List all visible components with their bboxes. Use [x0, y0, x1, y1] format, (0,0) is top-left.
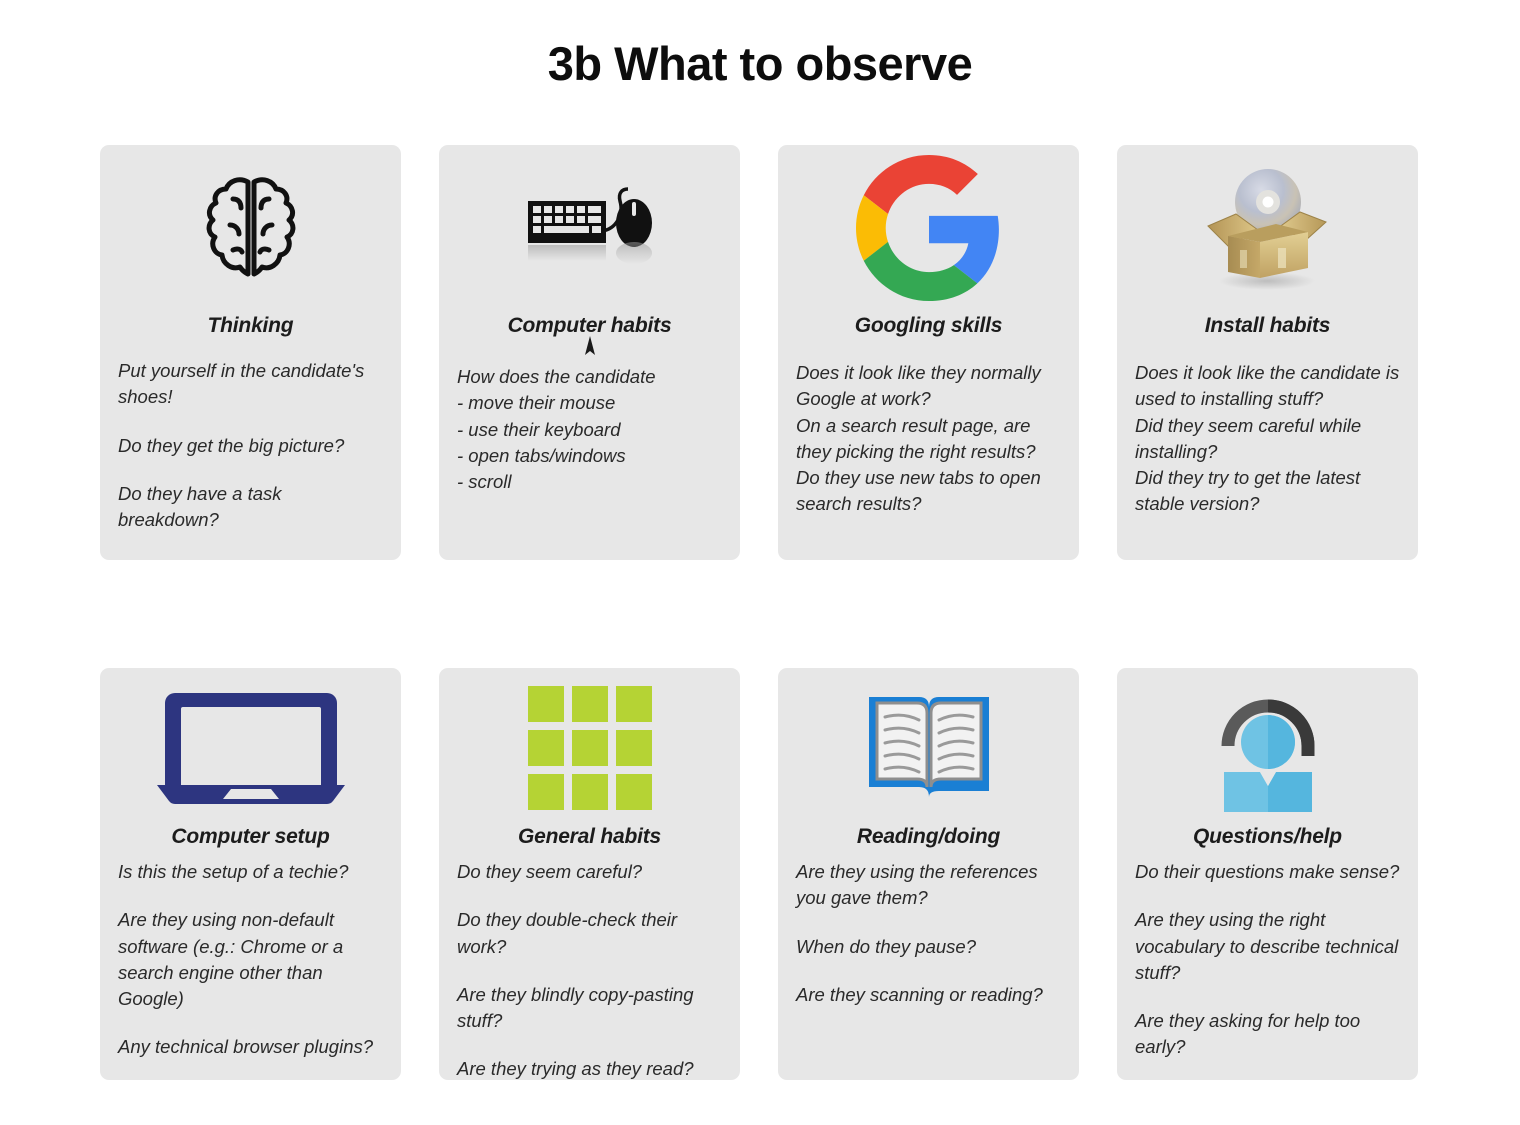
card-icon-slot: [1117, 145, 1418, 310]
observation-card-grid: Thinking Put yourself in the candidate's…: [100, 145, 1420, 1080]
software-box-cd-icon: [1200, 164, 1335, 297]
card-body: Are they using the references you gave t…: [778, 859, 1079, 1008]
card-line: - scroll: [457, 469, 722, 495]
card-computer-setup: Computer setup Is this the setup of a te…: [100, 668, 401, 1080]
card-line: Does it look like they normally Google a…: [796, 360, 1061, 413]
card-line: Do their questions make sense?: [1135, 859, 1400, 885]
card-title: Googling skills: [778, 314, 1079, 338]
card-googling-skills: Googling skills Does it look like they n…: [778, 145, 1079, 560]
card-line: Does it look like the candidate is used …: [1135, 360, 1400, 413]
card-icon-slot: [439, 668, 740, 823]
card-line: On a search result page, are they pickin…: [796, 413, 1061, 466]
card-body: Is this the setup of a techie? Are they …: [100, 859, 401, 1061]
card-install-habits: Install habits Does it look like the can…: [1117, 145, 1418, 560]
card-title: General habits: [439, 825, 740, 849]
google-g-icon: [856, 155, 1002, 306]
card-line: Are they using non-default software (e.g…: [118, 907, 383, 1012]
card-line: Put yourself in the candidate's shoes!: [118, 358, 383, 411]
laptop-icon: [153, 685, 349, 816]
card-icon-slot: [439, 145, 740, 310]
card-general-habits: General habits Do they seem careful? Do …: [439, 668, 740, 1080]
card-title: Computer habits: [439, 314, 740, 338]
card-line: Do they seem careful?: [457, 859, 722, 885]
grid-squares-icon: [528, 686, 652, 815]
card-title: Install habits: [1117, 314, 1418, 338]
card-questions-help: Questions/help Do their questions make s…: [1117, 668, 1418, 1080]
card-line: Is this the setup of a techie?: [118, 859, 383, 885]
card-line: - open tabs/windows: [457, 443, 722, 469]
card-line: Do they have a task breakdown?: [118, 481, 383, 534]
card-title: Questions/help: [1117, 825, 1418, 849]
card-reading-doing: Reading/doing Are they using the referen…: [778, 668, 1079, 1080]
card-line: How does the candidate: [457, 364, 722, 390]
card-body: Does it look like the candidate is used …: [1117, 360, 1418, 518]
brain-icon: [191, 168, 311, 293]
card-line: - move their mouse: [457, 390, 722, 416]
card-line: When do they pause?: [796, 934, 1061, 960]
card-icon-slot: [778, 668, 1079, 823]
card-line: Did they seem careful while installing?: [1135, 413, 1400, 466]
card-title: Computer setup: [100, 825, 401, 849]
card-icon-slot: [100, 145, 401, 310]
page-title: 3b What to observe: [0, 38, 1520, 90]
card-line: Do they double-check their work?: [457, 907, 722, 960]
card-title: Thinking: [100, 314, 401, 338]
card-line: Are they using the references you gave t…: [796, 859, 1061, 912]
keyboard-mouse-icon: [520, 171, 660, 291]
card-line: Any technical browser plugins?: [118, 1034, 383, 1060]
card-line: Do they use new tabs to open search resu…: [796, 465, 1061, 518]
card-line: Did they try to get the latest stable ve…: [1135, 465, 1400, 518]
mouse-cursor-icon: [582, 336, 598, 356]
card-icon-slot: [100, 668, 401, 823]
card-body: How does the candidate - move their mous…: [439, 364, 740, 495]
card-line: Are they asking for help too early?: [1135, 1008, 1400, 1061]
open-book-icon: [865, 689, 993, 812]
card-body: Do they seem careful? Do they double-che…: [439, 859, 740, 1080]
card-thinking: Thinking Put yourself in the candidate's…: [100, 145, 401, 560]
card-body: Put yourself in the candidate's shoes! D…: [100, 358, 401, 533]
card-line: Are they using the right vocabulary to d…: [1135, 907, 1400, 986]
card-icon-slot: [1117, 668, 1418, 823]
card-computer-habits: Computer habits How does the candidate -…: [439, 145, 740, 560]
card-line: Are they blindly copy-pasting stuff?: [457, 982, 722, 1035]
card-line: Are they trying as they read?: [457, 1056, 722, 1080]
card-title: Reading/doing: [778, 825, 1079, 849]
card-line: Are they scanning or reading?: [796, 982, 1061, 1008]
card-body: Do their questions make sense? Are they …: [1117, 859, 1418, 1061]
card-body: Does it look like they normally Google a…: [778, 360, 1079, 518]
support-agent-icon: [1214, 684, 1322, 817]
card-icon-slot: [778, 145, 1079, 310]
card-line: Do they get the big picture?: [118, 433, 383, 459]
card-line: - use their keyboard: [457, 417, 722, 443]
